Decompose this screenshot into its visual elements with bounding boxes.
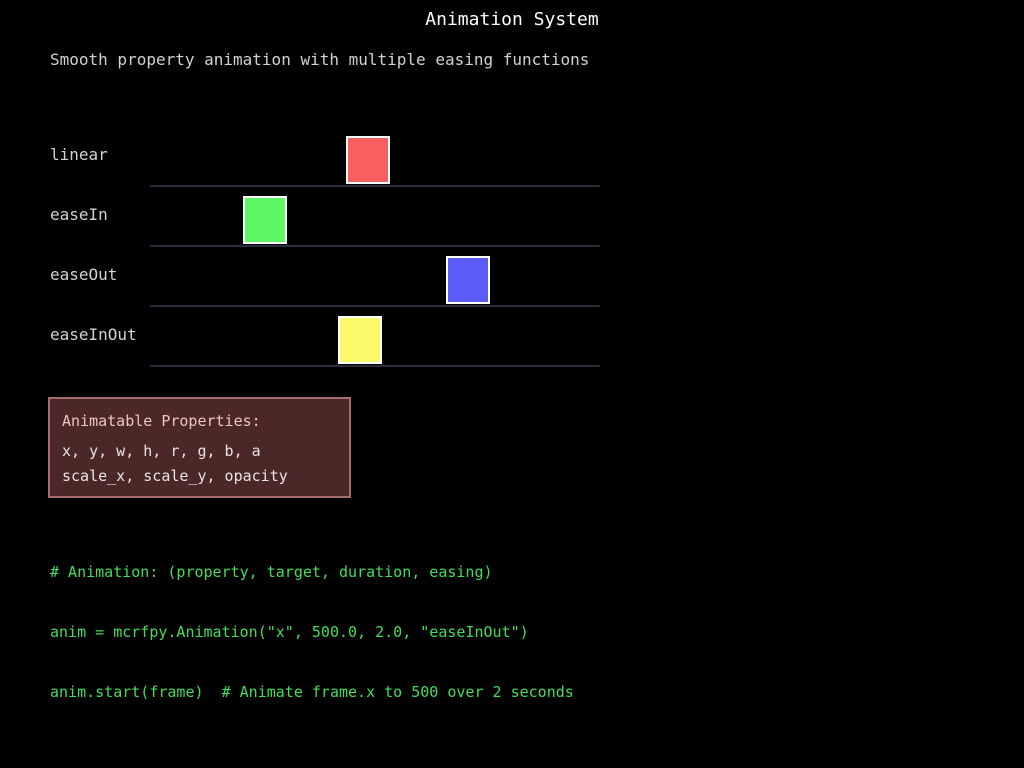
animated-sprite-easeinout [338, 316, 382, 364]
code-line-comment: # Animation: (property, target, duration… [50, 562, 574, 582]
easing-track-baseline [150, 365, 600, 367]
properties-list-line-1: x, y, w, h, r, g, b, a [62, 442, 261, 460]
animated-sprite-linear [346, 136, 390, 184]
properties-panel-title: Animatable Properties: [62, 412, 261, 430]
code-sample: # Animation: (property, target, duration… [50, 522, 574, 742]
animated-sprite-easeout [446, 256, 490, 304]
easing-track-baseline [150, 305, 600, 307]
easing-track-label-linear: linear [50, 146, 108, 164]
animation-demo-canvas: Animation System Smooth property animati… [0, 0, 1024, 768]
easing-track-label-easeout: easeOut [50, 266, 117, 284]
easing-track-label-easeinout: easeInOut [50, 326, 137, 344]
code-line-animation: anim = mcrfpy.Animation("x", 500.0, 2.0,… [50, 622, 574, 642]
code-line-start: anim.start(frame) # Animate frame.x to 5… [50, 682, 574, 702]
animatable-properties-panel: Animatable Properties: x, y, w, h, r, g,… [48, 397, 351, 498]
easing-track-label-easein: easeIn [50, 206, 108, 224]
animated-sprite-easein [243, 196, 287, 244]
easing-track-baseline [150, 185, 600, 187]
easing-track: easeInOut [0, 0, 1024, 60]
easing-track-baseline [150, 245, 600, 247]
properties-list-line-2: scale_x, scale_y, opacity [62, 467, 288, 485]
